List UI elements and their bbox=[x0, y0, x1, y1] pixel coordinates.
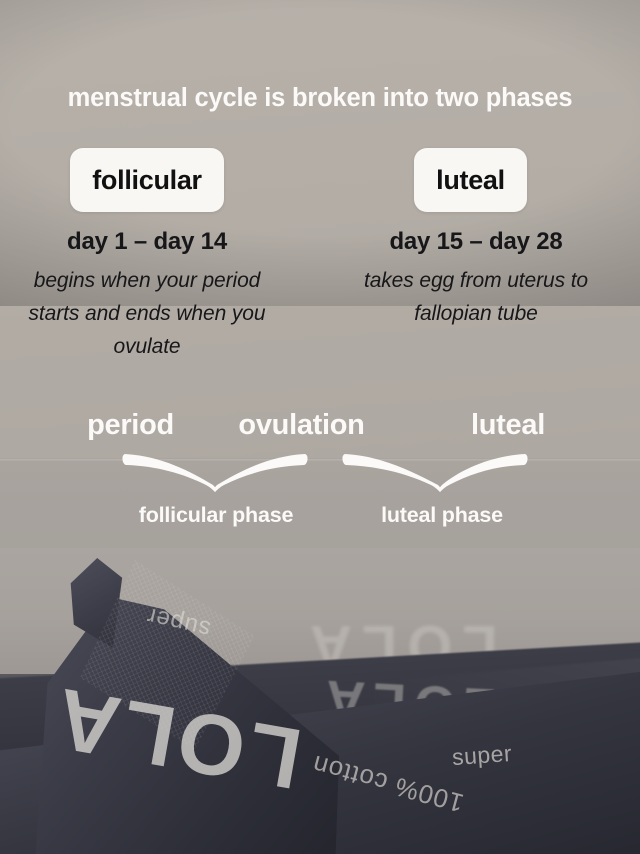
phase-bracket-label-follicular: follicular phase bbox=[96, 503, 336, 528]
phase-name-luteal: luteal bbox=[414, 148, 527, 212]
timeline-stage-ovulation: ovulation bbox=[214, 409, 389, 442]
timeline-stage-luteal: luteal bbox=[442, 409, 574, 442]
page-title: menstrual cycle is broken into two phase… bbox=[0, 84, 640, 113]
phase-description-luteal: takes egg from uterus to fallopian tube bbox=[351, 264, 601, 330]
phase-days-luteal: day 15 – day 28 bbox=[351, 228, 601, 256]
phase-days-follicular: day 1 – day 14 bbox=[22, 228, 272, 256]
background-seam bbox=[0, 459, 640, 462]
phase-bracket-label-luteal: luteal phase bbox=[342, 503, 542, 528]
timeline-stage-period: period bbox=[58, 409, 203, 442]
phase-name-follicular: follicular bbox=[70, 148, 224, 212]
cycle-infographic: LOLA LOLA super LOLA super 100% cotton m… bbox=[0, 0, 640, 854]
phase-description-follicular: begins when your period starts and ends … bbox=[22, 264, 272, 363]
wrapper-absorbency-right-text: super bbox=[451, 740, 513, 771]
